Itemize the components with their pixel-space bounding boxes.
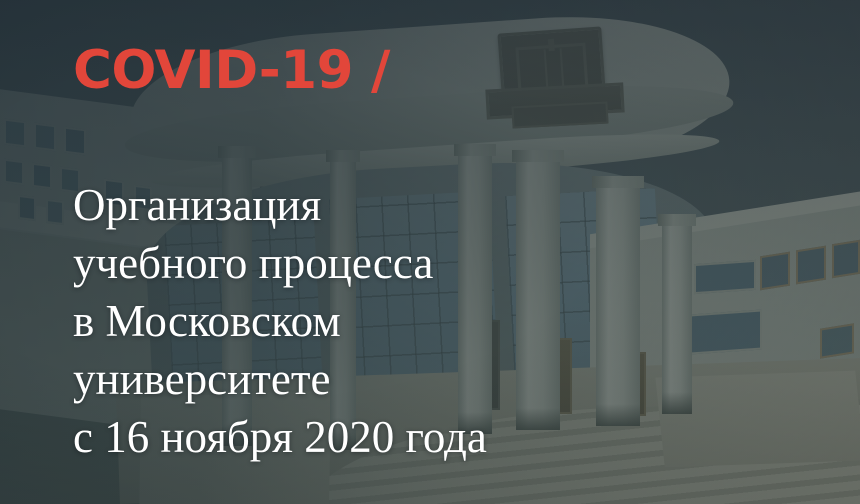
banner-headline: Организация учебного процесса в Московск… bbox=[73, 176, 487, 466]
headline-line-1: Организация bbox=[73, 176, 487, 234]
headline-line-5: с 16 ноября 2020 года bbox=[73, 408, 487, 466]
covid-kicker: COVID-19 / bbox=[73, 44, 390, 97]
headline-line-3: в Московском bbox=[73, 292, 487, 350]
covid-announcement-banner: COVID-19 / Организация учебного процесса… bbox=[0, 0, 860, 504]
headline-line-2: учебного процесса bbox=[73, 234, 487, 292]
headline-line-4: университете bbox=[73, 350, 487, 408]
banner-content: COVID-19 / Организация учебного процесса… bbox=[73, 0, 633, 504]
